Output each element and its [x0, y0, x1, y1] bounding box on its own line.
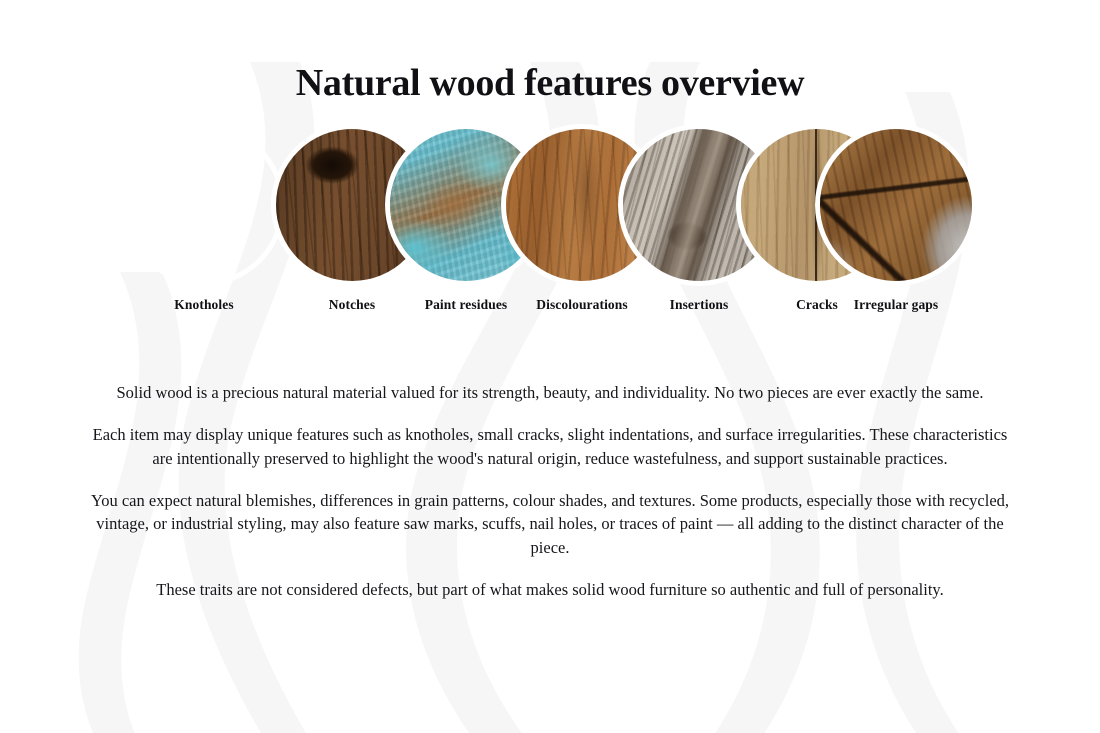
feature-label-knotholes: Knotholes: [174, 297, 233, 313]
body-copy: Solid wood is a precious natural materia…: [90, 381, 1010, 602]
feature-label-irregular-gaps: Irregular gaps: [854, 297, 939, 313]
paragraph-features: Each item may display unique features su…: [90, 423, 1010, 470]
page-title: Natural wood features overview: [0, 62, 1100, 106]
paragraph-blemishes: You can expect natural blemishes, differ…: [90, 489, 1010, 559]
wood-texture-irregular-gaps: [820, 129, 972, 281]
feature-item-irregular-gaps[interactable]: Irregular gaps: [820, 129, 972, 281]
poster-page: Natural wood features overview Knotholes…: [0, 62, 1100, 733]
feature-image-irregular-gaps: [820, 129, 972, 281]
feature-strip: Knotholes Notches Paint residues Discolo…: [128, 129, 972, 319]
paragraph-closing: These traits are not considered defects,…: [90, 578, 1010, 601]
feature-label-cracks: Cracks: [796, 297, 838, 313]
feature-label-notches: Notches: [329, 297, 375, 313]
feature-label-discolourations: Discolourations: [536, 297, 628, 313]
paragraph-intro: Solid wood is a precious natural materia…: [90, 381, 1010, 404]
wood-texture-knotholes: [128, 129, 280, 281]
feature-label-paint-residues: Paint residues: [425, 297, 508, 313]
feature-item-knotholes[interactable]: Knotholes: [128, 129, 280, 281]
feature-label-insertions: Insertions: [670, 297, 729, 313]
feature-image-knotholes: [128, 129, 280, 281]
